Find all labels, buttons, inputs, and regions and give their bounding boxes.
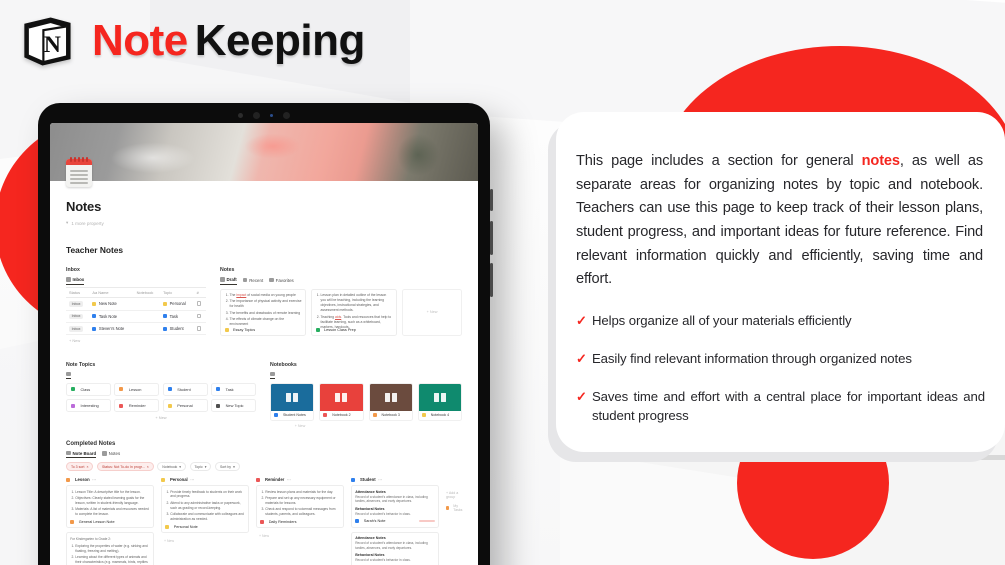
- card-line: Objectives: Clearly stated learning goal…: [75, 496, 150, 506]
- chevron-down-icon: ▾: [205, 465, 207, 469]
- more-icon[interactable]: ⋯: [190, 477, 194, 482]
- notebooks-new-button[interactable]: + New: [270, 421, 330, 431]
- topic-item[interactable]: New Topic: [211, 399, 256, 412]
- brand-word-note: Note: [92, 16, 188, 65]
- more-properties-label: 1 more property: [71, 221, 103, 226]
- list-item-label: Saves time and effort with a central pla…: [592, 387, 985, 425]
- board-column-lesson: Lesson⋯ Lesson Title: A descriptive titl…: [66, 477, 154, 565]
- note-topics-heading: Note Topics: [66, 362, 256, 368]
- filter-pill-notebook[interactable]: Notebook▾: [157, 462, 186, 471]
- check-icon: ✓: [576, 387, 587, 425]
- more-icon[interactable]: ⋯: [378, 477, 382, 482]
- card-desc: Record of a student's behavior in class.: [355, 558, 435, 563]
- close-icon[interactable]: ×: [147, 465, 149, 469]
- table-row[interactable]: Inbox Task Note Task: [66, 310, 206, 322]
- check-icon: ✓: [576, 311, 587, 330]
- board-column-reminder: Reminder⋯ Review lesson plans and materi…: [256, 477, 344, 565]
- inbox-heading: Inbox: [66, 267, 206, 273]
- inbox-new-row-button[interactable]: + New: [66, 335, 206, 345]
- books-icon: [385, 393, 397, 402]
- row-notebook: [134, 323, 160, 335]
- card-line: Prepare and set up any necessary equipme…: [265, 496, 340, 506]
- row-name: Task Note: [99, 314, 117, 319]
- row-name: New Note: [99, 301, 117, 306]
- info-card: This page includes a section for general…: [556, 112, 1005, 452]
- notebook-card[interactable]: Notebook 2: [319, 383, 363, 421]
- card-tag: Sarah's Note: [355, 519, 435, 523]
- note-gallery-card[interactable]: The impact of social media on young peop…: [220, 289, 306, 336]
- table-header-row: Status Aa Name Notebook Topic #: [66, 287, 206, 298]
- note-card-tag: Essay Topics: [225, 328, 256, 332]
- status-badge: Inbox: [69, 314, 83, 320]
- volume-down-button[interactable]: [490, 263, 493, 297]
- row-notebook: [134, 310, 160, 322]
- inbox-table: Status Aa Name Notebook Topic # Inbox Ne…: [66, 287, 206, 336]
- board-column-header: Personal⋯: [161, 477, 249, 482]
- camera-lens-icon: [283, 112, 290, 119]
- list-view-icon: [102, 451, 107, 456]
- inbox-view-tabs: Inbox: [66, 277, 206, 285]
- card-line: Review lesson plans and materials for th…: [265, 490, 340, 495]
- tablet-camera-array: [38, 112, 490, 119]
- page-title: NoteKeeping: [92, 19, 365, 63]
- tab-favorites-label: Favorites: [276, 278, 294, 283]
- filter-pill-topic[interactable]: Topic▾: [190, 462, 212, 471]
- row-name: Steven's Note: [99, 326, 124, 331]
- highlight-notes: notes: [862, 153, 900, 169]
- list-item: ✓ Easily find relevant information throu…: [576, 349, 985, 368]
- tablet-screen: Notes ▾ 1 more property Teacher Notes In…: [50, 123, 478, 565]
- note-gallery-card[interactable]: Lesson plan in detailed outline of the l…: [311, 289, 397, 336]
- chevron-down-icon: ▾: [233, 465, 235, 469]
- notes-view-tabs: Draft Recent Favorites: [220, 277, 462, 285]
- books-icon: [434, 393, 446, 402]
- more-icon[interactable]: ⋯: [92, 477, 96, 482]
- board-card[interactable]: Attendance Notes Record of a student's a…: [351, 532, 439, 565]
- row-topic: Task: [170, 314, 178, 319]
- gallery-view-icon: [220, 277, 225, 282]
- board-card[interactable]: Lesson Title: A descriptive title for th…: [66, 485, 154, 528]
- teacher-notes-heading: Teacher Notes: [66, 245, 462, 255]
- tab-note-board[interactable]: Note Board: [66, 451, 96, 459]
- camera-lens-icon: [253, 112, 260, 119]
- tab-recent-label: Recent: [249, 278, 263, 283]
- status-badge: Inbox: [69, 326, 83, 332]
- card-desc: Record of a student's behavior in class.: [355, 512, 435, 517]
- card-line: Learning about the different types of an…: [75, 555, 150, 565]
- column-new-button[interactable]: + New: [161, 537, 249, 545]
- volume-up-button[interactable]: [490, 221, 493, 255]
- kanban-board: Lesson⋯ Lesson Title: A descriptive titl…: [66, 477, 462, 565]
- tab-notebooks-gallery[interactable]: [270, 372, 275, 379]
- paragraph-lead: This page includes a section for general: [576, 153, 862, 169]
- topic-item[interactable]: Lesson: [114, 383, 159, 396]
- note-line: The benefits and drawbacks of remote lea…: [230, 311, 302, 316]
- status-badge: Inbox: [69, 301, 83, 307]
- tab-draft[interactable]: Draft: [220, 277, 237, 285]
- board-view-icon: [66, 451, 71, 456]
- completed-notes-heading: Completed Notes: [66, 441, 462, 447]
- board-column-header: Reminder⋯: [256, 477, 344, 482]
- row-checkbox[interactable]: [197, 326, 202, 331]
- poster-canvas: N NoteKeeping Notes: [0, 0, 1005, 565]
- card-line: Check and respond to voicemail messages …: [265, 507, 340, 517]
- tab-favorites[interactable]: Favorites: [269, 278, 294, 285]
- board-column-personal: Personal⋯ Provide timely feedback to stu…: [161, 477, 249, 565]
- topic-item[interactable]: Task: [211, 383, 256, 396]
- col-status[interactable]: Status: [66, 287, 89, 298]
- books-icon: [286, 393, 298, 402]
- svg-text:N: N: [44, 32, 61, 58]
- topic-item[interactable]: Reminder: [114, 399, 159, 412]
- topic-item[interactable]: Class: [66, 383, 111, 396]
- card-line: Collaborate and communicate with colleag…: [170, 512, 245, 522]
- board-column-header: Student⋯: [351, 477, 439, 482]
- card-subheading: Behavioral Notes: [355, 507, 435, 511]
- card-tag: Personal Note: [165, 525, 245, 529]
- topic-item[interactable]: Interesting: [66, 399, 111, 412]
- card-line: Provide timely feedback to students on t…: [170, 490, 245, 500]
- list-item-label: Easily find relevant information through…: [592, 349, 912, 368]
- notebooks-grid: Student Notes Notebook 2 Notebook 3: [270, 383, 462, 421]
- topics-new-button[interactable]: + New: [66, 412, 256, 422]
- card-line: Exploring the properties of water (e.g. …: [75, 544, 150, 554]
- board-card[interactable]: Review lesson plans and materials for th…: [256, 485, 344, 528]
- row-topic: Personal: [170, 301, 186, 306]
- card-line: Materials: A list of materials and resou…: [75, 507, 150, 517]
- books-icon: [335, 393, 347, 402]
- card-subheading: Attendance Notes: [355, 490, 435, 494]
- table-row[interactable]: Inbox New Note Personal: [66, 298, 206, 310]
- inbox-table-body: Inbox New Note Personal Inbox Task Note: [66, 298, 206, 335]
- brand-word-keeping: Keeping: [195, 16, 365, 65]
- brand-header: N NoteKeeping: [18, 12, 365, 70]
- note-line: Lesson plan in detailed outline of the l…: [321, 293, 393, 313]
- card-desc: Record of a student's attendance in clas…: [355, 495, 435, 505]
- close-icon[interactable]: ×: [86, 465, 88, 469]
- gallery-view-icon: [270, 372, 275, 377]
- board-add-group[interactable]: + Add a group My Tasks: [446, 477, 464, 565]
- note-card-tag: Lesson Class Prep: [316, 328, 356, 332]
- paragraph-rest: , as well as separate areas for organizi…: [576, 153, 983, 287]
- notebook-card[interactable]: Notebook 3: [369, 383, 413, 421]
- row-notebook: [134, 298, 160, 310]
- filter-pill-sort[interactable]: To 3 sort×: [66, 462, 93, 471]
- board-filter-bar: To 3 sort× Status: Not To-do In progr...…: [66, 462, 462, 471]
- notion-page-title: Notes: [66, 199, 462, 214]
- notion-page-body: Notes ▾ 1 more property Teacher Notes In…: [50, 181, 478, 565]
- filter-pill-status[interactable]: Status: Not To-do In progr...×: [97, 462, 154, 471]
- tab-topics-gallery[interactable]: [66, 372, 71, 379]
- tab-notes-list[interactable]: Notes: [102, 451, 120, 458]
- benefits-list: ✓ Helps organize all of your materials e…: [576, 311, 985, 426]
- notes-new-card-button[interactable]: + New: [402, 289, 462, 336]
- notebook-card[interactable]: Student Notes: [270, 383, 314, 421]
- tab-recent[interactable]: Recent: [243, 278, 263, 285]
- star-icon: [269, 278, 274, 283]
- tab-inbox[interactable]: Inbox: [66, 277, 84, 285]
- notepad-emoji-icon: [66, 159, 92, 187]
- card-tag: Daily Reminders: [260, 520, 340, 524]
- card-desc: Record of a student's attendance in clas…: [355, 541, 435, 551]
- tab-inbox-label: Inbox: [73, 277, 85, 282]
- col-extra[interactable]: #: [194, 287, 206, 298]
- more-properties-toggle[interactable]: ▾ 1 more property: [66, 220, 462, 226]
- card-line: Attend to any administrative tasks or pa…: [170, 501, 245, 511]
- list-item: ✓ Saves time and effort with a central p…: [576, 387, 985, 425]
- topic-item[interactable]: Personal: [163, 399, 208, 412]
- my-tasks-label: My Tasks: [453, 504, 463, 512]
- card-subheading: Attendance Notes: [355, 536, 435, 540]
- row-checkbox[interactable]: [197, 314, 202, 319]
- notion-cover-image: [50, 123, 478, 181]
- board-card[interactable]: For Kindergarten to Grade 2: Exploring t…: [66, 532, 154, 565]
- col-notebook[interactable]: Notebook: [134, 287, 160, 298]
- tablet-device-mockup: Notes ▾ 1 more property Teacher Notes In…: [38, 103, 490, 565]
- board-card[interactable]: Provide timely feedback to students on t…: [161, 485, 249, 533]
- notebooks-heading: Notebooks: [270, 362, 462, 368]
- row-checkbox[interactable]: [197, 301, 202, 306]
- notion-cube-icon: N: [18, 12, 76, 70]
- tab-draft-label: Draft: [227, 277, 237, 282]
- col-name[interactable]: Aa Name: [89, 287, 133, 298]
- notebook-card[interactable]: Notebook 4: [418, 383, 462, 421]
- table-view-icon: [66, 277, 71, 282]
- card-tag: General Lesson Note: [70, 520, 150, 524]
- led-indicator-icon: [270, 114, 273, 117]
- more-icon[interactable]: ⋯: [287, 477, 291, 482]
- topic-item[interactable]: Student: [163, 383, 208, 396]
- completed-notes-view-tabs: Note Board Notes: [66, 451, 462, 459]
- card-line: Lesson Title: A descriptive title for th…: [75, 490, 150, 495]
- gallery-view-icon: [66, 372, 71, 377]
- description-paragraph: This page includes a section for general…: [576, 150, 985, 292]
- sensor-dot-icon: [238, 113, 243, 118]
- filter-pill-sortby[interactable]: Sort by▾: [215, 462, 240, 471]
- list-item-label: Helps organize all of your materials eff…: [592, 311, 852, 330]
- clock-icon: [243, 278, 248, 283]
- note-line: The effects of climate change on the env…: [230, 317, 302, 327]
- chevron-down-icon: ▾: [66, 220, 68, 226]
- column-new-button[interactable]: + New: [256, 532, 344, 540]
- check-icon: ✓: [576, 349, 587, 368]
- note-line: The importance of physical activity and …: [230, 299, 302, 309]
- chevron-down-icon: ▾: [179, 465, 181, 469]
- note-topics-grid: Class Lesson Student Task Interesting Re…: [66, 383, 256, 413]
- list-item: ✓ Helps organize all of your materials e…: [576, 311, 985, 330]
- notes-heading: Notes: [220, 267, 462, 273]
- board-column-student: Student⋯ Attendance Notes Record of a st…: [351, 477, 439, 565]
- row-topic: Student: [170, 326, 184, 331]
- board-card[interactable]: Attendance Notes Record of a student's a…: [351, 485, 439, 527]
- board-column-header: Lesson⋯: [66, 477, 154, 482]
- card-subheading: For Kindergarten to Grade 2:: [70, 537, 150, 542]
- card-subheading: Behavioral Notes: [355, 553, 435, 557]
- power-button[interactable]: [490, 189, 493, 211]
- table-row[interactable]: Inbox Steven's Note Student: [66, 323, 206, 335]
- col-topic[interactable]: Topic: [160, 287, 194, 298]
- note-line: The impact of social media on young peop…: [230, 293, 302, 298]
